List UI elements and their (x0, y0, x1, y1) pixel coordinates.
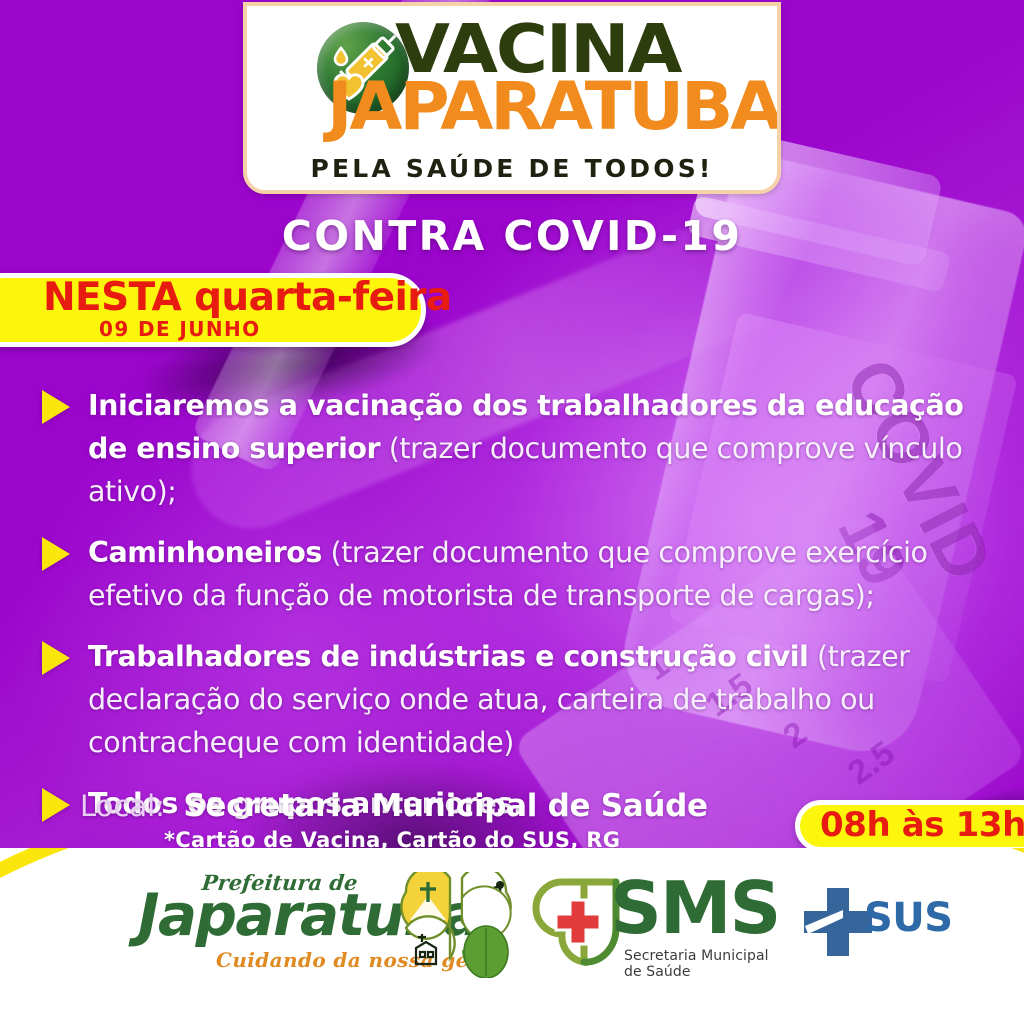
list-item-text: Iniciaremos a vacinação dos trabalhadore… (88, 384, 988, 513)
japaratuba-coat-of-arms-icon (400, 872, 512, 978)
location-block: Local: Secretaria Municipal de Saúde *Ca… (80, 788, 720, 852)
page-title: CONTRA COVID-19 (0, 212, 1024, 260)
date-badge: NESTA quarta-feira 09 DE JUNHO (0, 273, 426, 347)
list-item-text: Caminhoneiros (trazer documento que comp… (88, 531, 928, 617)
time-badge: 08h às 13h (795, 800, 1024, 852)
list-item: Trabalhadores de indústrias e construção… (38, 635, 998, 764)
prefeitura-logo: Prefeitura de Japaratuba Cuidando da nos… (138, 870, 518, 978)
sus-logo: SUS (798, 882, 978, 970)
triangle-bullet-icon (42, 537, 70, 571)
sms-logo: SMS Secretaria Municipal de Saúde (532, 870, 782, 978)
location-line: Local: Secretaria Municipal de Saúde (80, 788, 720, 824)
time-range: 08h às 13h (820, 802, 1024, 848)
location-value: Secretaria Municipal de Saúde (183, 788, 707, 824)
sms-acronym: SMS (610, 868, 779, 948)
sus-acronym: SUS (864, 896, 953, 940)
list-item-strong: Trabalhadores de indústrias e construção… (88, 640, 808, 673)
triangle-bullet-icon (42, 788, 70, 822)
triangle-bullet-icon (42, 641, 70, 675)
logo-wordmark-row: VACINA JAPARATUBA (265, 12, 765, 122)
list-item-text: Trabalhadores de indústrias e construção… (88, 635, 1024, 764)
date-day-month: 09 DE JUNHO (99, 318, 261, 340)
list-item: Iniciaremos a vacinação dos trabalhadore… (38, 384, 998, 513)
list-item: Caminhoneiros (trazer documento que comp… (38, 531, 998, 617)
footer-logos: Prefeitura de Japaratuba Cuidando da nos… (0, 866, 1024, 986)
triangle-bullet-icon (42, 390, 70, 424)
eligible-groups-list: Iniciaremos a vacinação dos trabalhadore… (38, 384, 998, 843)
sms-subtitle: Secretaria Municipal de Saúde (624, 948, 782, 980)
vaccination-campaign-poster: COVID 19 1 1.5 2 2.5 (0, 0, 1024, 1024)
list-item-strong: Caminhoneiros (88, 536, 322, 569)
date-weekday: NESTA quarta-feira (43, 276, 452, 320)
logo-tagline: PELA SAÚDE DE TODOS! (247, 154, 777, 183)
location-label: Local: (80, 789, 165, 823)
logo-word-japaratuba: JAPARATUBA (327, 74, 780, 140)
campaign-logo-box: VACINA JAPARATUBA PELA SAÚDE DE TODOS! (243, 2, 781, 194)
footer: Prefeitura de Japaratuba Cuidando da nos… (0, 848, 1024, 1024)
